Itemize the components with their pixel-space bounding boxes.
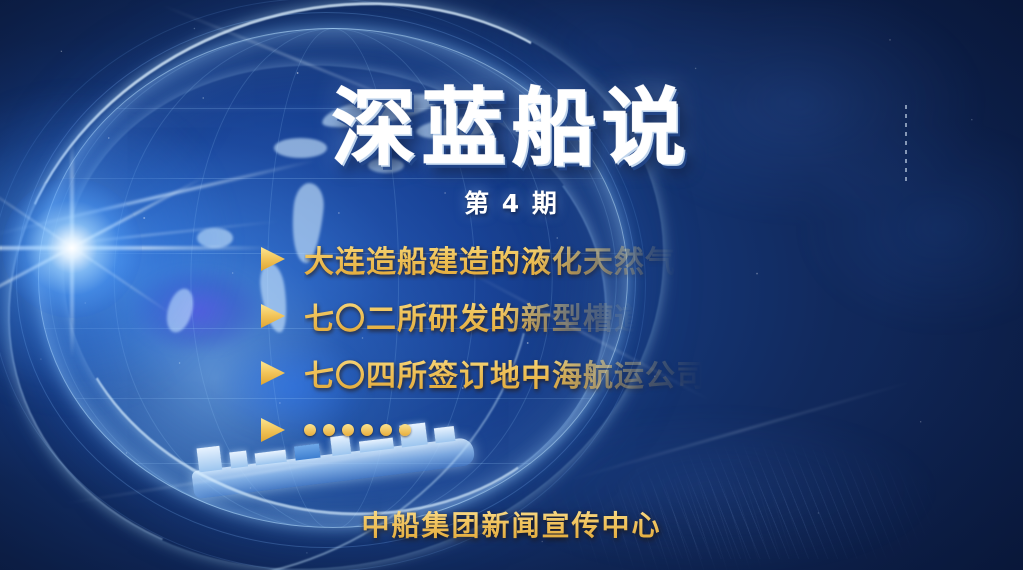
title-card-content: 深蓝船说 第 4 期 大连 xyxy=(0,0,1023,570)
play-triangle-icon xyxy=(258,358,288,388)
topic-text: 七〇二所研发的新型槽道 xyxy=(304,294,645,338)
play-triangle-icon xyxy=(258,301,288,331)
publisher-credit: 中船集团新闻宣传中心 xyxy=(0,504,1023,544)
topic-list-item[interactable]: 七〇四所签订地中海航运公司 xyxy=(258,344,778,401)
topic-text: 七〇四所签订地中海航运公司 xyxy=(304,351,707,395)
topic-text: 大连造船建造的液化天然气 xyxy=(304,237,676,281)
topic-list-item[interactable]: 大连造船建造的液化天然气 xyxy=(258,230,778,287)
video-frame: 深蓝船说 第 4 期 大连 xyxy=(0,0,1023,570)
topic-list: 大连造船建造的液化天然气 七〇二所研发的新型槽道 七〇四所签订地中海航运公司 xyxy=(258,230,778,458)
play-triangle-icon xyxy=(258,244,288,274)
topic-list-item[interactable] xyxy=(258,401,778,458)
play-triangle-icon xyxy=(258,415,288,445)
ellipsis-dots xyxy=(304,424,411,436)
program-title: 深蓝船说 xyxy=(0,86,1023,170)
topic-list-item[interactable]: 七〇二所研发的新型槽道 xyxy=(258,287,778,344)
episode-label: 第 4 期 xyxy=(0,184,1023,220)
